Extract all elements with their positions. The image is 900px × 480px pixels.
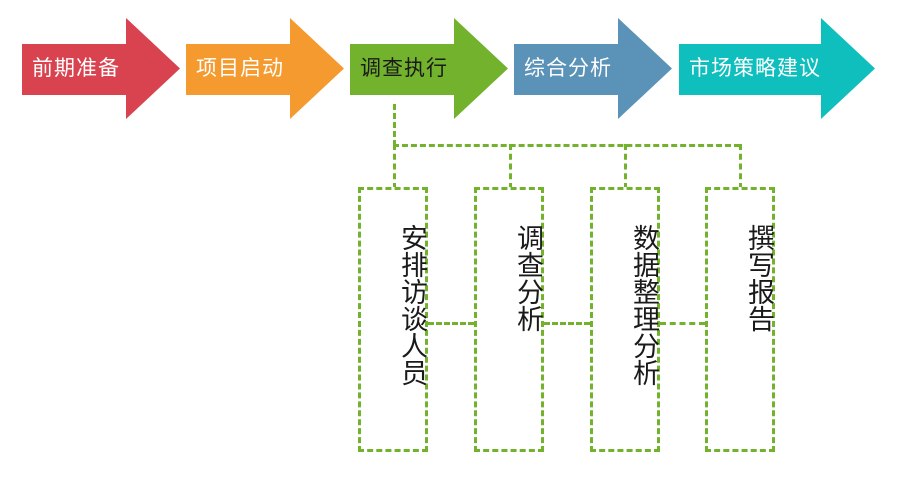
- stage-arrow-2-label: 项目启动: [196, 58, 284, 79]
- stage-arrow-5[interactable]: 市场策略建议: [679, 18, 875, 119]
- task-box-1[interactable]: 安排访谈人员: [358, 187, 428, 452]
- connector-horizontal-bus: [393, 144, 740, 147]
- connector-task-link-2-3: [544, 322, 590, 325]
- connector-task-link-1-2: [428, 322, 474, 325]
- task-box-1-label: 安排访谈人员: [361, 224, 425, 386]
- stage-arrow-4-label: 综合分析: [524, 58, 612, 79]
- task-box-2-label: 调查分析: [477, 224, 541, 332]
- stage-arrow-2[interactable]: 项目启动: [186, 18, 344, 119]
- connector-drop-1: [393, 144, 396, 189]
- stage-arrow-3-label: 调查执行: [360, 58, 448, 79]
- connector-drop-2: [509, 144, 512, 189]
- task-box-3-label: 数据整理分析: [593, 224, 657, 386]
- stage-arrow-5-label: 市场策略建议: [689, 58, 821, 79]
- connector-drop-3: [624, 144, 627, 189]
- stage-arrow-4[interactable]: 综合分析: [514, 18, 672, 119]
- task-box-4-label: 撰写报告: [708, 224, 772, 332]
- diagram-canvas: 前期准备 项目启动 调查执行 综合分析 市场策略建议 安排访谈: [0, 0, 900, 480]
- stage-arrow-1[interactable]: 前期准备: [22, 18, 180, 119]
- task-box-3[interactable]: 数据整理分析: [590, 187, 660, 452]
- connector-task-link-3-4: [660, 322, 705, 325]
- stage-arrow-1-label: 前期准备: [32, 58, 120, 79]
- stage-arrow-3[interactable]: 调查执行: [350, 18, 508, 119]
- connector-drop-4: [739, 144, 742, 189]
- task-box-4[interactable]: 撰写报告: [705, 187, 775, 452]
- connector-parent-stem: [393, 104, 396, 146]
- task-box-2[interactable]: 调查分析: [474, 187, 544, 452]
